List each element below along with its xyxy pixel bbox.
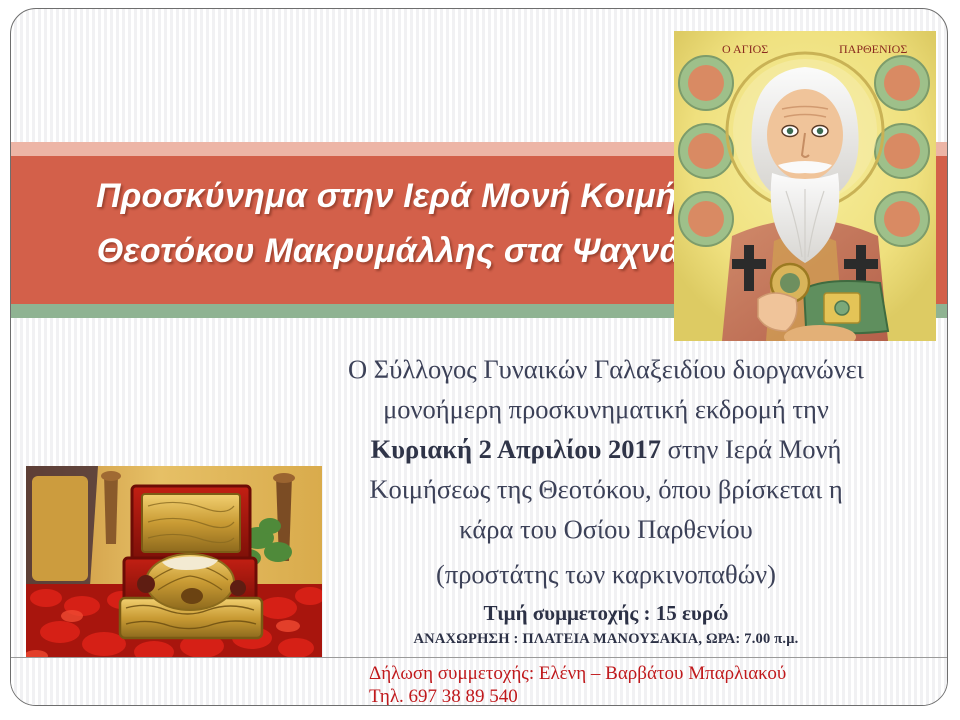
body-copy: Ο Σύλλογος Γυναικών Γαλαξειδίου διοργανώ… — [266, 349, 946, 549]
reliquary-image — [26, 466, 322, 671]
contact-box: Δήλωση συμμετοχής: Ελένη – Βαρβάτου Μπαρ… — [11, 657, 948, 706]
contact-line-1: Δήλωση συμμετοχής: Ελένη – Βαρβάτου Μπαρ… — [369, 662, 786, 685]
price-line: Τιμή συμμετοχής : 15 ευρώ — [266, 601, 946, 626]
svg-text:ΠΑΡΘΕΝΙΟΣ: ΠΑΡΘΕΝΙΟΣ — [839, 42, 907, 56]
body-line-3-rest: στην Ιερά Μονή — [661, 434, 841, 464]
departure-line: ΑΝΑΧΩΡΗΣΗ : ΠΛΑΤΕΙΑ ΜΑΝΟΥΣΑΚΙΑ, ΩΡΑ: 7.0… — [266, 631, 946, 648]
contact-text: Δήλωση συμμετοχής: Ελένη – Βαρβάτου Μπαρ… — [369, 662, 786, 706]
body-line-4: Κοιμήσεως της Θεοτόκου, όπου βρίσκεται η — [266, 469, 946, 509]
event-date: Κυριακή 2 Απριλίου 2017 — [371, 434, 661, 464]
svg-text:Ο ΑΓΙΟΣ: Ο ΑΓΙΟΣ — [722, 42, 768, 56]
body-line-1: Ο Σύλλογος Γυναικών Γαλαξειδίου διοργανώ… — [266, 349, 946, 389]
patron-note: (προστάτης των καρκινοπαθών) — [266, 556, 946, 592]
body-line-3: Κυριακή 2 Απριλίου 2017 στην Ιερά Μονή — [266, 429, 946, 469]
body-line-2: μονοήμερη προσκυνηματική εκδρομή την — [266, 389, 946, 429]
body-line-5: κάρα του Οσίου Παρθενίου — [266, 509, 946, 549]
slide-canvas: Ο ΑΓΙΟΣ ΠΑΡΘΕΝΙΟΣ — [10, 8, 948, 706]
saint-icon-image: Ο ΑΓΙΟΣ ΠΑΡΘΕΝΙΟΣ — [674, 31, 936, 341]
contact-line-2: Τηλ. 697 38 89 540 — [369, 685, 786, 706]
